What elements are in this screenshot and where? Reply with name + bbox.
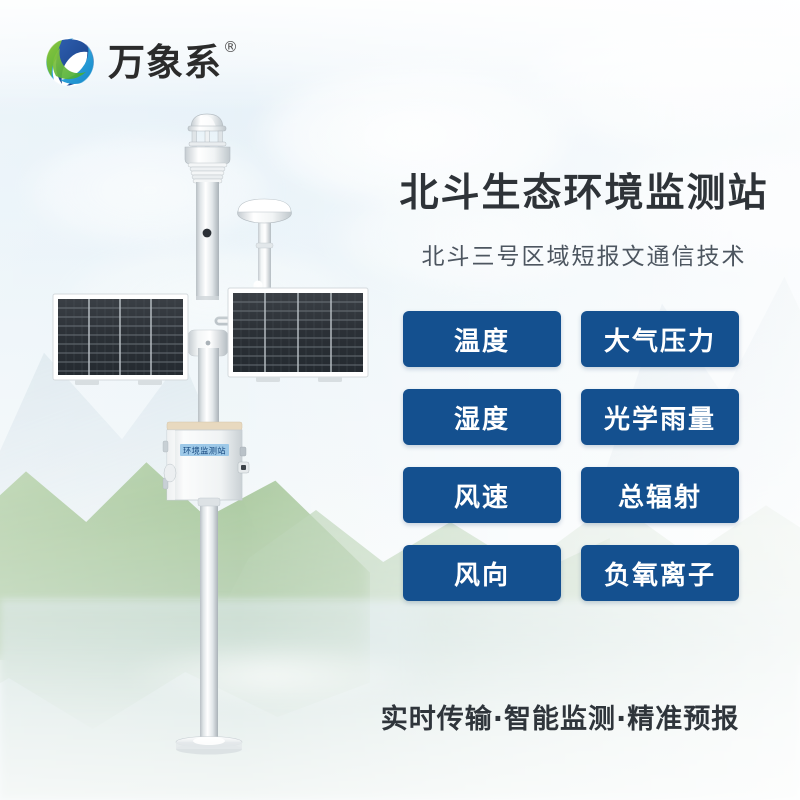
feature-tag-wind-speed[interactable]: 风速 [403,467,561,523]
feature-tag-negative-oxygen-ions[interactable]: 负氧离子 [581,545,739,601]
mast-pole-upper [196,182,219,300]
mast-pole-mid [198,348,219,424]
feature-tag-total-radiation[interactable]: 总辐射 [581,467,739,523]
brand-name: 万象系 ® [108,44,222,81]
feature-tag-label: 负氧离子 [604,555,716,592]
base-flange [176,737,242,755]
footer-tagline: 实时传输·智能监测·精准预报 [350,697,770,736]
feature-tag-label: 光学雨量 [604,399,716,436]
mast-collar [198,498,220,506]
registered-trademark-icon: ® [223,40,239,55]
feature-tag-humidity[interactable]: 湿度 [403,389,561,445]
brand-name-text: 万象系 [108,41,222,84]
feature-tag-label: 湿度 [454,399,510,436]
sensor-port [203,229,212,238]
feature-tag-label: 风速 [454,477,510,514]
page-title: 北斗生态环境监测站 [384,172,784,217]
globe-swoosh-logo-icon [42,34,98,90]
feature-tag-label: 风向 [454,555,510,592]
control-cabinet: 环境监测站 [163,422,249,500]
feature-tag-wind-direction[interactable]: 风向 [403,545,561,601]
page-subtitle: 北斗三号区域短报文通信技术 [384,237,784,271]
feature-tag-grid: 温度 大气压力 湿度 光学雨量 风速 总辐射 风向 负氧离子 [403,311,739,601]
cabinet-label-text: 环境监测站 [183,445,226,455]
feature-tag-air-pressure[interactable]: 大气压力 [581,311,739,367]
mast-pole-lower [200,500,218,738]
brand-logo[interactable]: 万象系 ® [42,34,222,90]
feature-tag-label: 温度 [454,321,510,358]
solar-panel-left [53,294,188,385]
solar-panel-right [228,288,368,382]
feature-tag-label: 大气压力 [604,321,716,358]
headline-block: 北斗生态环境监测站 北斗三号区域短报文通信技术 [384,172,784,271]
ultrasonic-weather-sensor [185,114,230,183]
feature-tag-temperature[interactable]: 温度 [403,311,561,367]
feature-tag-label: 总辐射 [618,477,702,514]
feature-tag-optical-rainfall[interactable]: 光学雨量 [581,389,739,445]
mast-joint [196,296,219,300]
